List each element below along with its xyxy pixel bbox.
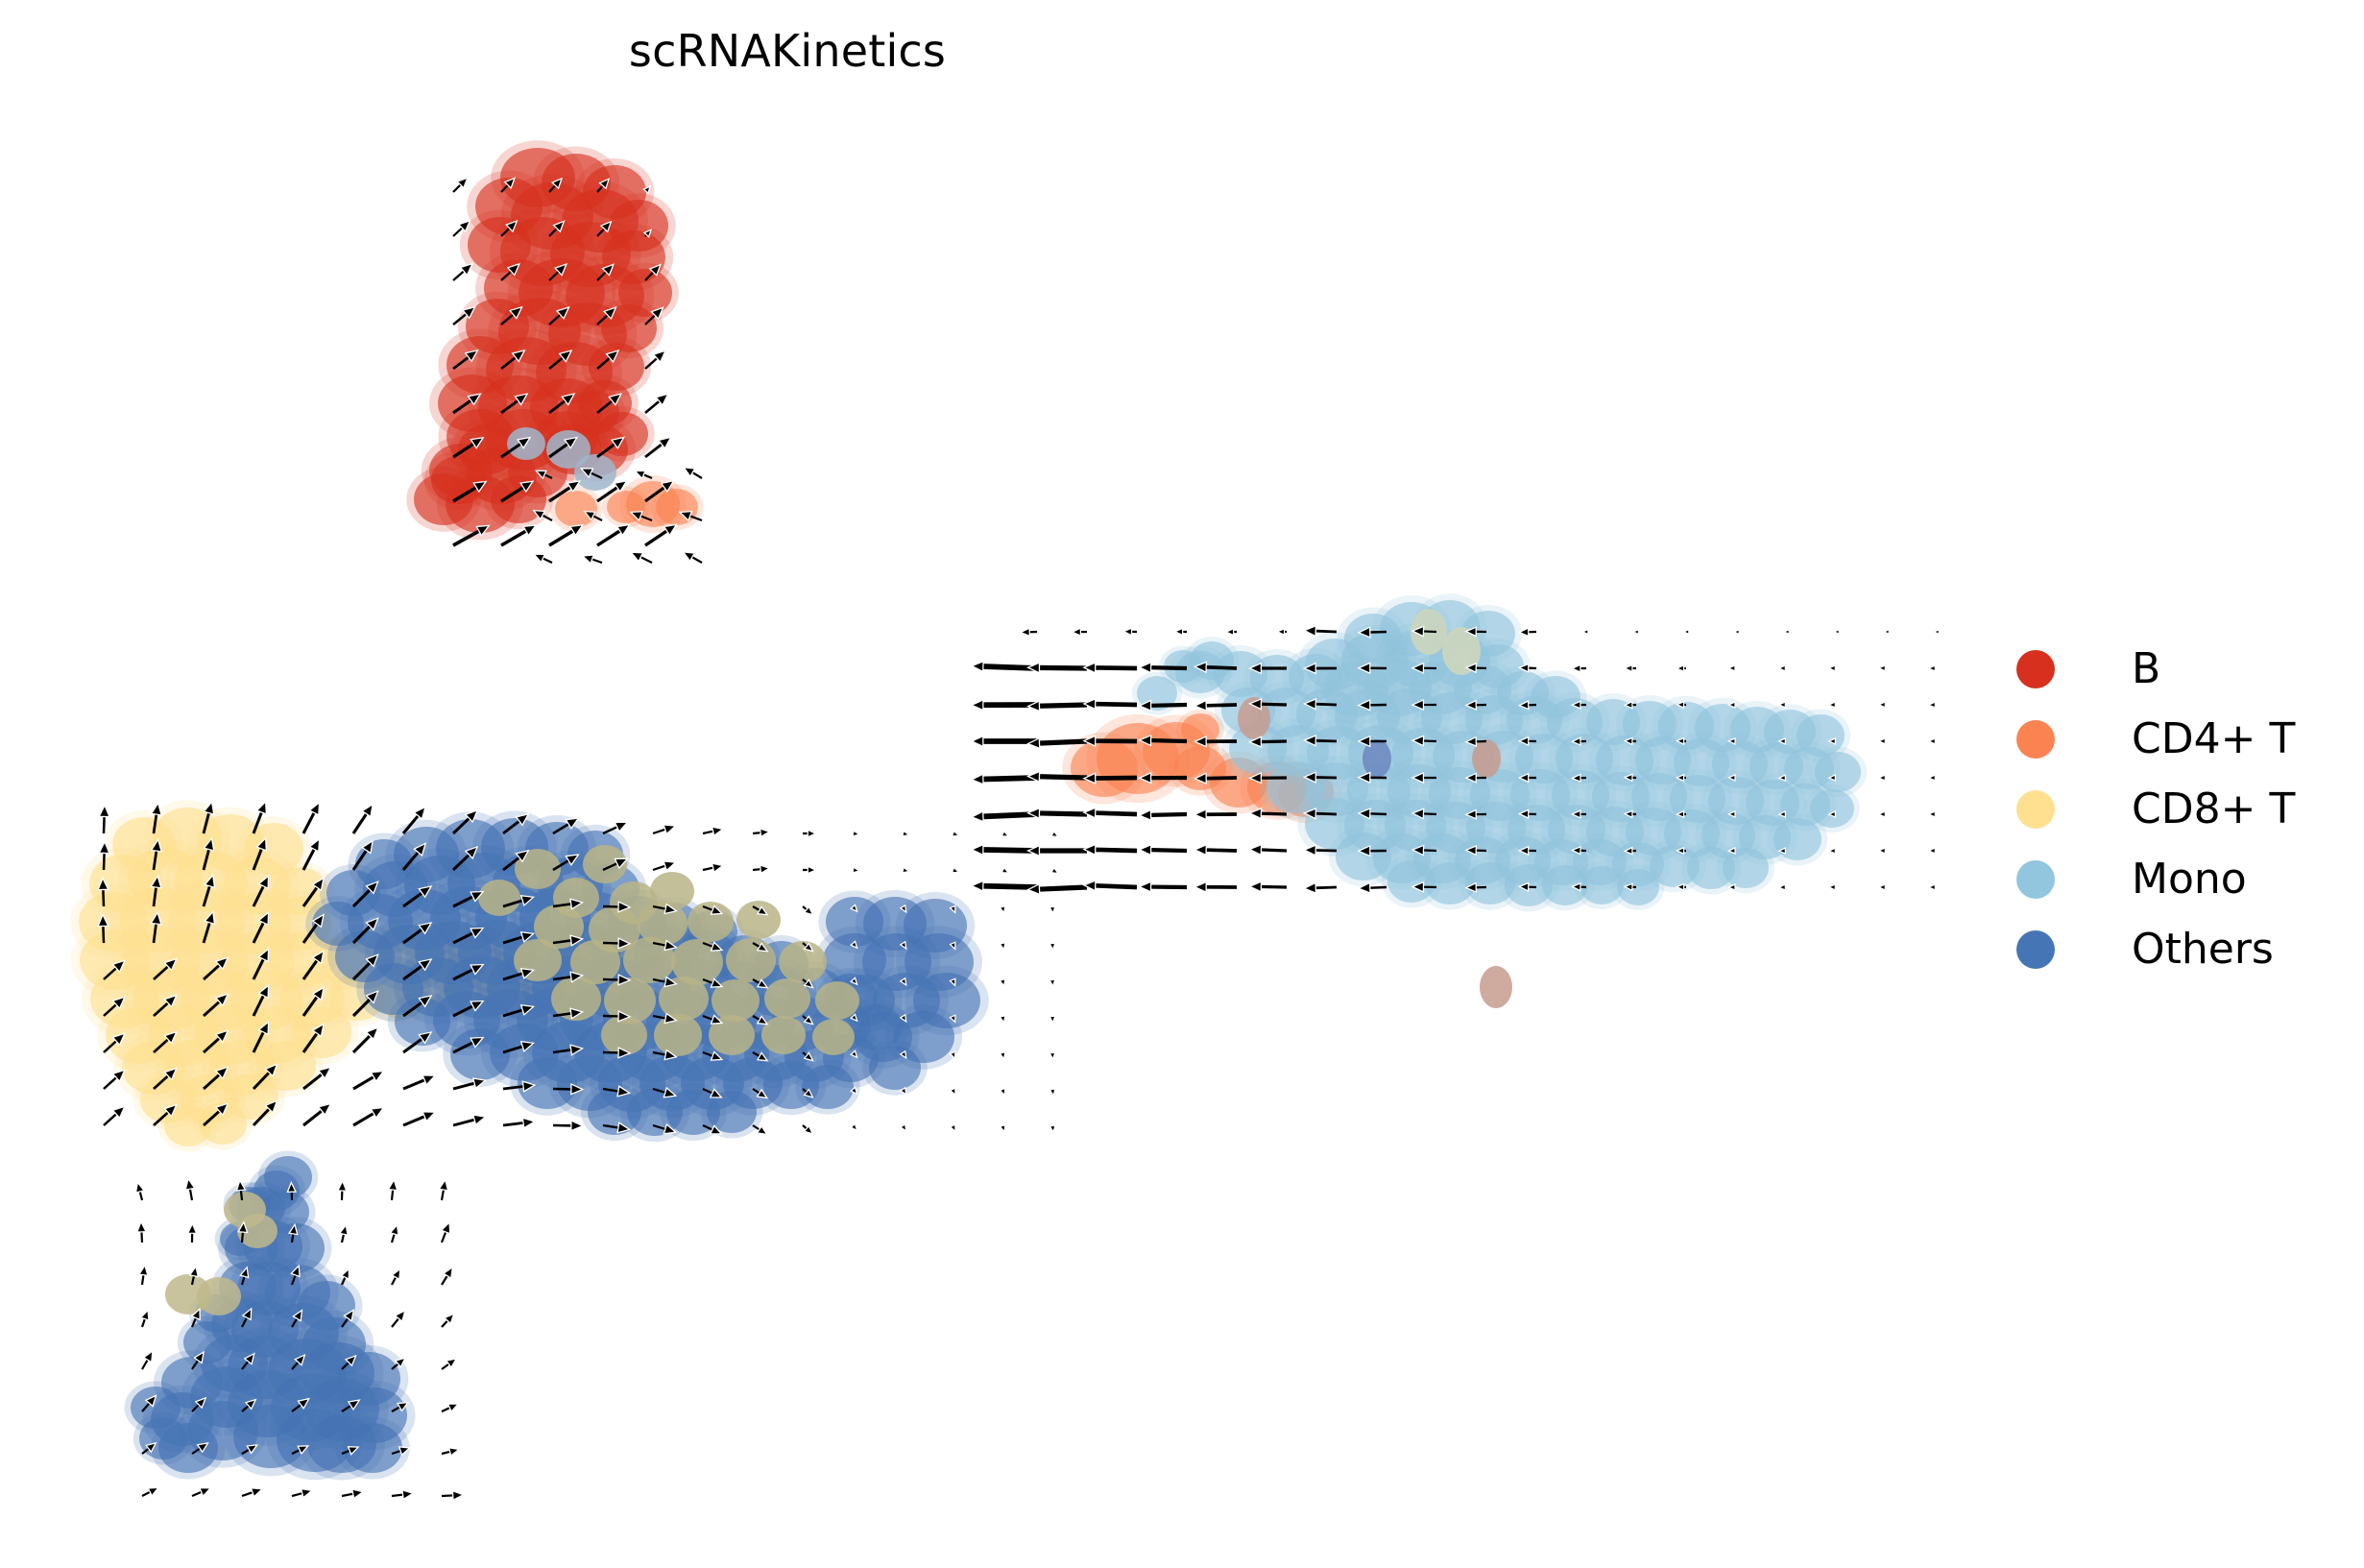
scatter-point-halo (1768, 813, 1828, 866)
velocity-arrow (1049, 1089, 1055, 1096)
velocity-arrow (1028, 846, 1087, 856)
velocity-arrow (1049, 1052, 1055, 1059)
velocity-arrow (1000, 979, 1005, 986)
velocity-arrow (903, 831, 909, 836)
velocity-arrow (442, 1314, 454, 1327)
velocity-arrow (1879, 884, 1886, 890)
velocity-arrow (553, 1121, 583, 1131)
velocity-arrow (653, 861, 675, 871)
legend-item-b[interactable]: B (2016, 634, 2364, 704)
overlap-point (779, 941, 827, 983)
overlap-point (687, 902, 734, 942)
scatter-point-halo (335, 1417, 410, 1480)
velocity-arrow (1073, 628, 1087, 636)
scatter-point-halo (133, 1412, 194, 1465)
velocity-arrow (442, 1404, 458, 1411)
velocity-arrow (141, 1310, 149, 1327)
velocity-arrow (1929, 702, 1936, 708)
velocity-arrow (1779, 665, 1786, 671)
velocity-arrow (1028, 808, 1087, 819)
velocity-arrow (1879, 848, 1886, 854)
velocity-arrow (1929, 848, 1936, 854)
velocity-arrow (99, 806, 109, 833)
velocity-arrow (631, 552, 652, 563)
velocity-arrow (1625, 665, 1636, 672)
velocity-arrow (1175, 628, 1187, 635)
velocity-arrow (972, 774, 1037, 784)
velocity-arrow (1084, 699, 1137, 710)
velocity-arrow (1049, 1016, 1055, 1023)
velocity-arrow (1084, 880, 1137, 891)
velocity-arrow (303, 803, 320, 833)
velocity-arrow (442, 1359, 456, 1369)
scatter-point-halo (550, 486, 603, 532)
legend-label-b: B (2132, 648, 2160, 690)
velocity-arrow (403, 1112, 435, 1125)
velocity-arrow (292, 1489, 312, 1498)
legend: B CD4+ T CD8+ T Mono Others (2016, 634, 2364, 984)
velocity-arrow (1277, 629, 1287, 635)
scatter-point-halo (1717, 843, 1774, 894)
velocity-arrow (1677, 665, 1686, 671)
velocity-arrow (703, 827, 723, 835)
scatter-points-layer (70, 140, 1867, 1480)
velocity-arrow (1140, 810, 1187, 821)
velocity-arrow (1929, 811, 1936, 817)
velocity-arrow (534, 554, 552, 563)
velocity-arrow (392, 1311, 405, 1327)
legend-item-cd8-t[interactable]: CD8+ T (2016, 774, 2364, 844)
velocity-arrow (1049, 1125, 1055, 1132)
legend-swatch-mono (2016, 860, 2055, 899)
velocity-arrow (1728, 665, 1735, 671)
velocity-arrow (1884, 630, 1889, 635)
velocity-arrow (597, 525, 630, 545)
velocity-arrow (1829, 848, 1836, 854)
velocity-arrow (803, 906, 813, 915)
legend-swatch-others (2016, 930, 2055, 969)
velocity-arrow (1084, 808, 1137, 818)
velocity-arrow (342, 1489, 363, 1498)
velocity-arrow (1829, 884, 1836, 890)
velocity-arrow (1000, 1016, 1005, 1023)
legend-swatch-b (2016, 650, 2055, 688)
velocity-arrow (442, 1222, 450, 1242)
velocity-arrow (1929, 775, 1936, 781)
legend-label-cd4-t: CD4+ T (2132, 718, 2295, 760)
velocity-arrow (1001, 832, 1008, 836)
velocity-arrow (503, 1118, 535, 1128)
scatter-point-halo (295, 1311, 374, 1378)
velocity-arrow (1028, 663, 1087, 673)
overlap-point (654, 1014, 702, 1056)
velocity-arrow (188, 1223, 197, 1242)
velocity-arrow (645, 394, 668, 413)
legend-swatch-cd8-t (2016, 790, 2055, 829)
velocity-arrow (1572, 664, 1586, 672)
velocity-arrow (137, 1221, 146, 1242)
velocity-arrow (583, 555, 602, 564)
legend-label-others: Others (2132, 929, 2274, 971)
velocity-arrow (1879, 811, 1886, 817)
velocity-arrow (1049, 979, 1055, 986)
velocity-arrow (1829, 665, 1836, 671)
scatter-point-halo (862, 1040, 928, 1096)
velocity-arrow (853, 867, 859, 873)
scatter-plot-canvas (0, 0, 2007, 1568)
velocity-arrow (1929, 665, 1936, 671)
velocity-arrow (1250, 881, 1287, 892)
velocity-arrow (1123, 628, 1137, 635)
velocity-arrow (192, 1488, 210, 1496)
velocity-arrow (1140, 845, 1187, 856)
velocity-arrow (684, 468, 702, 478)
velocity-arrow (851, 1123, 856, 1130)
velocity-arrow (1140, 881, 1187, 892)
velocity-arrow (1250, 845, 1287, 856)
velocity-arrow (1734, 630, 1739, 635)
velocity-arrow (1934, 630, 1939, 635)
overlap-point (478, 880, 520, 916)
velocity-arrow (951, 1124, 955, 1131)
legend-item-cd4-t[interactable]: CD4+ T (2016, 704, 2364, 774)
velocity-arrow (1049, 943, 1055, 950)
velocity-arrow (442, 1448, 459, 1456)
velocity-arrow (1194, 845, 1237, 856)
velocity-arrow (1784, 630, 1789, 635)
velocity-arrow (653, 825, 675, 834)
velocity-arrow (139, 1266, 148, 1285)
velocity-arrow (1582, 630, 1588, 635)
velocity-arrow (972, 736, 1037, 747)
velocity-arrow (1304, 882, 1337, 893)
velocity-arrow (439, 1180, 447, 1200)
velocity-arrow (1779, 884, 1786, 890)
overlap-point (726, 938, 776, 982)
velocity-arrow (1879, 775, 1886, 781)
velocity-arrow (1000, 1125, 1004, 1132)
velocity-arrow (340, 1225, 348, 1242)
velocity-arrow (1028, 701, 1087, 712)
velocity-arrow (1000, 1089, 1004, 1096)
legend-label-cd8-t: CD8+ T (2132, 788, 2295, 831)
velocity-arrow (389, 1180, 398, 1200)
velocity-arrow (1001, 868, 1008, 873)
scatter-point-halo (1612, 864, 1665, 910)
legend-item-mono[interactable]: Mono (2016, 844, 2364, 914)
legend-swatch-cd4-t (2016, 720, 2055, 759)
velocity-arrow (1194, 882, 1237, 893)
velocity-arrow (753, 1125, 767, 1134)
velocity-arrow (753, 829, 769, 836)
velocity-arrow (803, 830, 816, 836)
velocity-arrow (1084, 663, 1137, 673)
velocity-arrow (803, 866, 816, 873)
overlap-point (764, 978, 810, 1019)
velocity-arrow (753, 865, 769, 873)
velocity-arrow (338, 1181, 347, 1200)
velocity-arrow (353, 1108, 383, 1125)
velocity-arrow (185, 1179, 194, 1200)
velocity-embedding-svg (0, 0, 2007, 1568)
velocity-arrow (1633, 630, 1638, 635)
velocity-arrow (952, 867, 958, 872)
velocity-arrow (803, 1125, 812, 1134)
scatter-point-halo (795, 1059, 860, 1115)
overlap-point (761, 1016, 806, 1054)
velocity-arrow (1829, 702, 1836, 708)
velocity-arrow (453, 1115, 486, 1125)
velocity-arrow (1929, 884, 1936, 890)
overlap-point (601, 1015, 647, 1055)
overlap-point (197, 1277, 241, 1315)
velocity-arrow (972, 700, 1037, 711)
velocity-arrow (1021, 628, 1037, 636)
velocity-arrow (242, 1488, 262, 1497)
velocity-arrow (1929, 738, 1936, 744)
velocity-arrow (303, 1103, 330, 1125)
velocity-arrow (453, 178, 468, 192)
velocity-arrow (353, 805, 373, 833)
velocity-arrow (392, 1269, 400, 1285)
velocity-arrow (684, 552, 702, 563)
velocity-arrow (1226, 629, 1237, 636)
overlap-point (1480, 966, 1512, 1008)
legend-item-others[interactable]: Others (2016, 914, 2364, 984)
velocity-arrow (391, 1225, 398, 1242)
velocity-arrow (1028, 884, 1087, 895)
velocity-arrow (1049, 906, 1055, 913)
velocity-arrow (1051, 832, 1058, 837)
scatter-point-halo (701, 1086, 763, 1139)
velocity-arrow (952, 831, 958, 835)
velocity-arrow (1000, 1052, 1005, 1059)
velocity-arrow (1000, 906, 1005, 913)
overlap-point (736, 901, 781, 939)
overlap-point (812, 1019, 855, 1055)
velocity-arrow (442, 1491, 463, 1501)
velocity-arrow (403, 1075, 435, 1089)
velocity-arrow (1879, 665, 1886, 671)
velocity-arrow (353, 1072, 383, 1089)
figure-root: scRNAKinetics B CD4+ T CD8+ T Mono Other… (0, 0, 2364, 1568)
velocity-arrow (853, 831, 859, 836)
velocity-arrow (972, 662, 1037, 672)
velocity-arrow (1000, 943, 1005, 950)
overlap-point (815, 981, 859, 1020)
velocity-arrow (951, 1088, 955, 1095)
velocity-arrow (392, 1490, 413, 1499)
velocity-arrow (903, 867, 909, 873)
velocity-arrow (703, 863, 723, 872)
velocity-arrow (1834, 630, 1839, 635)
velocity-arrow (1051, 868, 1058, 874)
legend-label-mono: Mono (2132, 858, 2247, 901)
velocity-arrow (142, 1351, 153, 1369)
velocity-arrow (1879, 738, 1886, 744)
velocity-arrow (1084, 845, 1137, 856)
overlap-point (574, 454, 616, 491)
velocity-arrow (135, 1182, 143, 1200)
velocity-arrow (104, 1106, 125, 1125)
velocity-arrow (1684, 630, 1689, 635)
velocity-arrow (442, 1267, 452, 1285)
velocity-arrow (1879, 702, 1886, 708)
velocity-arrow (901, 1124, 906, 1131)
velocity-arrow (453, 264, 472, 280)
velocity-arrow (142, 1487, 158, 1496)
velocity-arrow (972, 845, 1037, 856)
